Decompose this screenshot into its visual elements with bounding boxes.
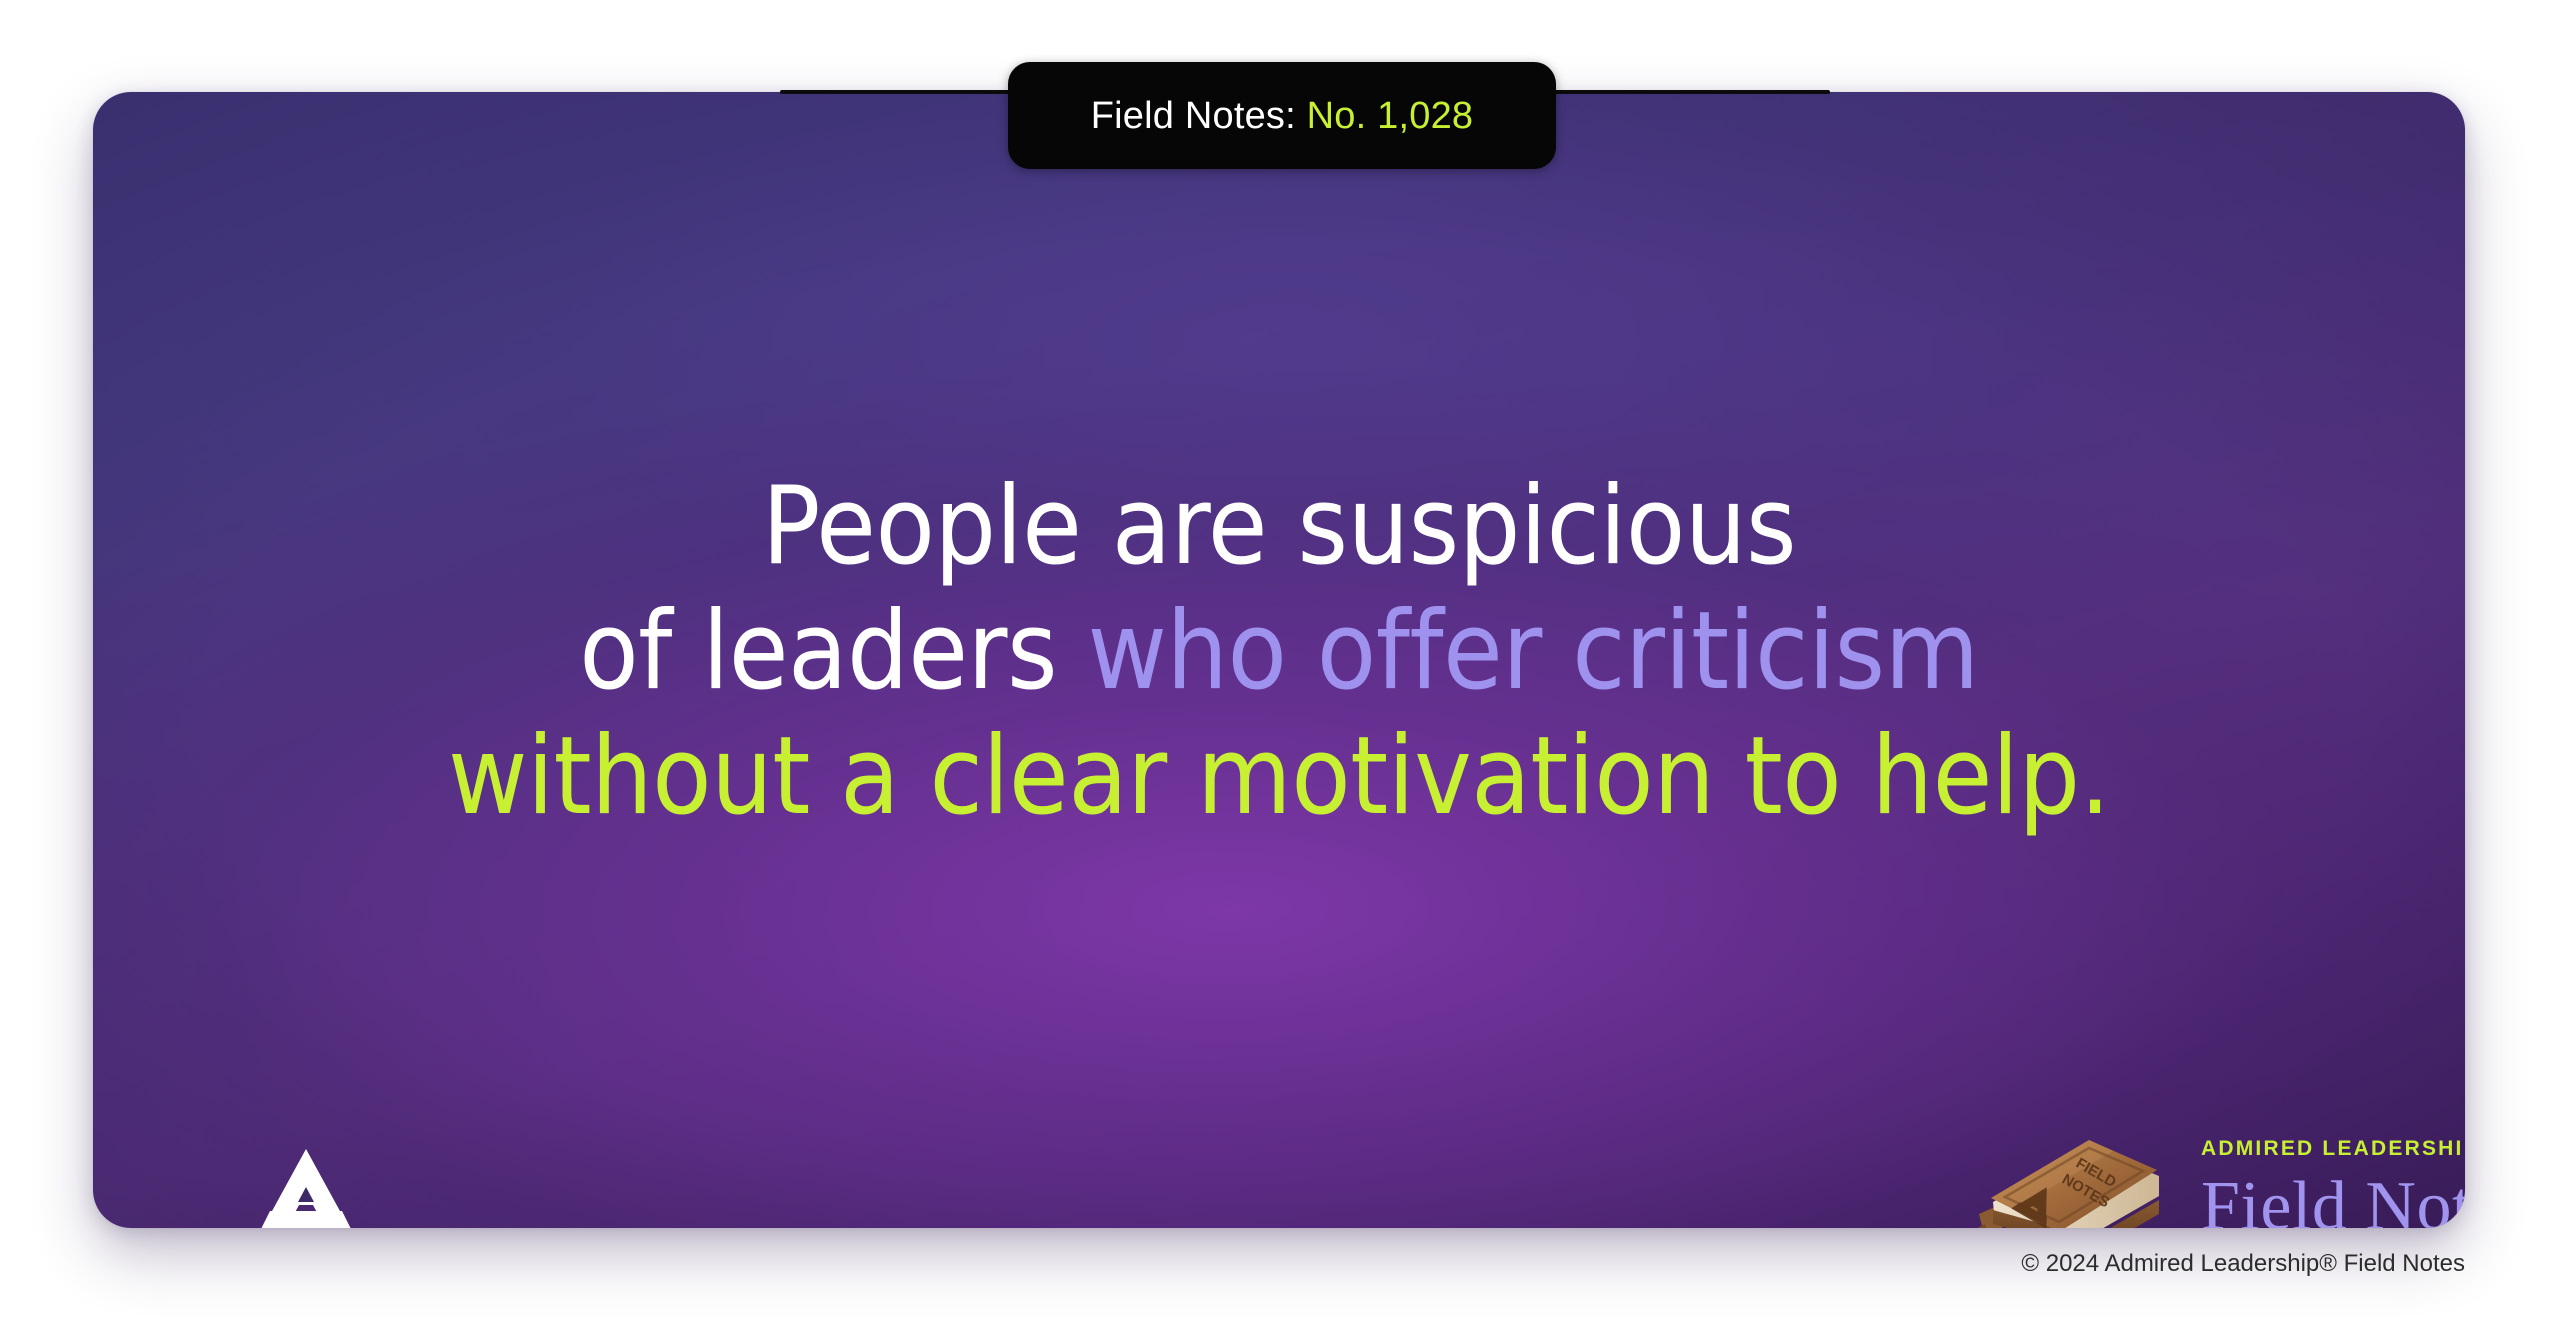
brand-text-block: ADMIRED LEADERSHIP® Field Notes (2201, 1138, 2465, 1228)
badge-number: No. 1,028 (1307, 95, 1474, 137)
brand-lockup: FIELD NOTES ADMIRED LEADERSHIP® Field No… (1953, 1102, 2465, 1228)
badge-text: Field Notes: No. 1,028 (1091, 97, 1474, 135)
slide-canvas: People are suspicious of leaders who off… (0, 0, 2560, 1340)
field-notes-notebook-image: FIELD NOTES (1963, 1110, 2173, 1228)
quote-line-2-text-white: of leaders (579, 589, 1087, 714)
quote-line-1-text: People are suspicious (762, 464, 1796, 589)
field-notes-number-badge: Field Notes: No. 1,028 (1008, 62, 1556, 169)
quote-block: People are suspicious of leaders who off… (93, 464, 2465, 839)
quote-line-3-text: without a clear motivation to help. (448, 714, 2110, 839)
badge-label: Field Notes: (1091, 95, 1296, 137)
admired-leadership-logo-icon (256, 1147, 356, 1228)
copyright-text: © 2024 Admired Leadership® Field Notes (2021, 1252, 2465, 1276)
brand-eyebrow: ADMIRED LEADERSHIP® (2201, 1138, 2465, 1159)
quote-line-2-text-accent: who offer criticism (1087, 589, 1978, 714)
quote-card: People are suspicious of leaders who off… (93, 92, 2465, 1228)
quote-line-1: People are suspicious (93, 464, 2465, 589)
quote-line-3: without a clear motivation to help. (93, 714, 2465, 839)
quote-line-2: of leaders who offer criticism (93, 589, 2465, 714)
brand-wordmark: Field Notes (2201, 1169, 2465, 1228)
